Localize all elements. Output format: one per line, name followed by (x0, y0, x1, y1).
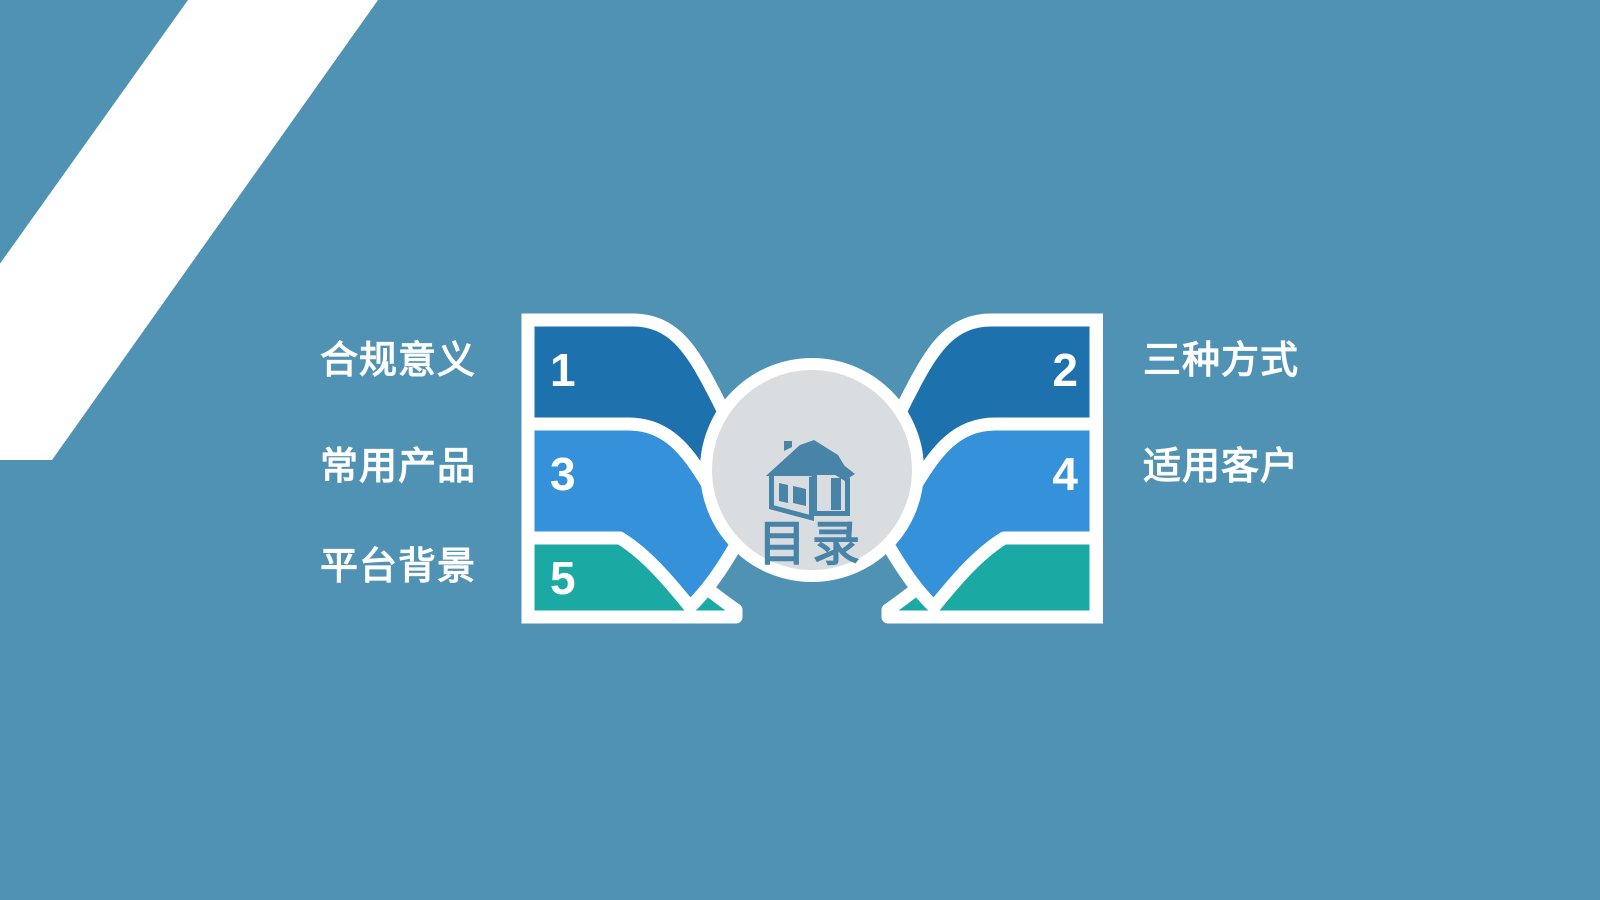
agenda-ribbon-diagram: 目录 1 3 5 2 4 (0, 0, 1600, 900)
bar-cap-left-5 (522, 532, 529, 624)
bar-cap-left-1 (522, 314, 529, 418)
agenda-label-4[interactable]: 适用客户 (1143, 448, 1299, 486)
agenda-label-1[interactable]: 合规意义 (320, 342, 476, 380)
slide-canvas: 目录 1 3 5 2 4 合规意义 常用产品 平台背景 三种方式 适用客户 (0, 0, 1600, 900)
ribbon-number-4: 4 (1052, 448, 1078, 500)
bar-cap-left-3 (522, 418, 529, 539)
agenda-label-5[interactable]: 平台背景 (320, 548, 476, 586)
center-title: 目录 (758, 518, 866, 571)
agenda-label-3[interactable]: 常用产品 (320, 448, 476, 486)
ribbon-number-2: 2 (1052, 344, 1078, 396)
ribbon-number-3: 3 (550, 448, 576, 500)
center-hub[interactable]: 目录 (707, 365, 917, 575)
ribbon-number-1: 1 (550, 344, 576, 396)
agenda-label-2[interactable]: 三种方式 (1143, 342, 1299, 380)
ribbon-number-5: 5 (550, 552, 576, 604)
bar-cap-right-2 (1096, 314, 1103, 418)
bar-cap-right-4 (1096, 418, 1103, 539)
bar-cap-right-5 (1096, 532, 1103, 624)
